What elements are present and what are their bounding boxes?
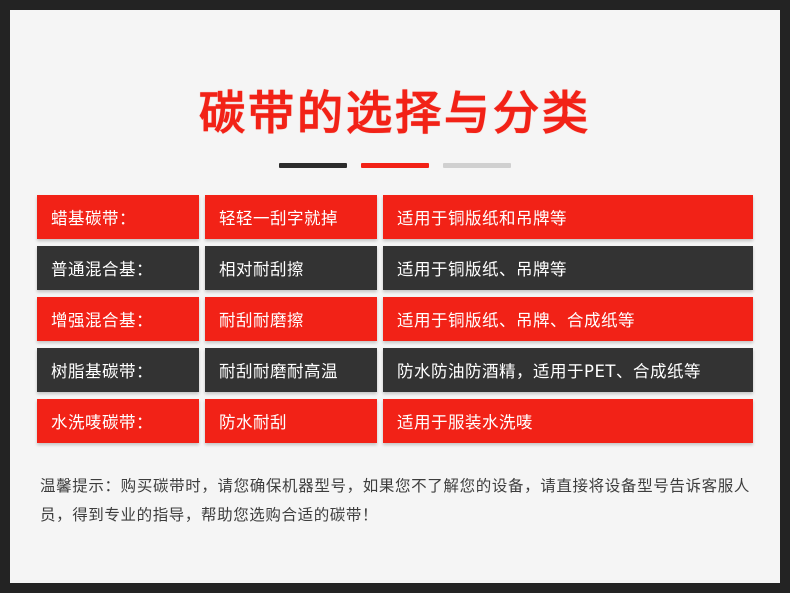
cell-ribbon-application: 防水防油防酒精，适用于PET、合成纸等 [383,348,753,392]
title-divider [279,163,511,168]
tip-note: 温馨提示：购买碳带时，请您确保机器型号，如果您不了解您的设备，请直接将设备型号告… [40,472,750,530]
cell-ribbon-property: 耐刮耐磨擦 [205,297,377,341]
cell-ribbon-application: 适用于铜版纸、吊牌等 [383,246,753,290]
cell-ribbon-application: 适用于服装水洗唛 [383,399,753,443]
poster-frame: 碳带的选择与分类 蜡基碳带： 轻轻一刮字就掉 适用于铜版纸和吊牌等 普通混合基：… [0,0,790,593]
table-row: 树脂基碳带： 耐刮耐磨耐高温 防水防油防酒精，适用于PET、合成纸等 [37,348,753,392]
table-row: 水洗唛碳带： 防水耐刮 适用于服装水洗唛 [37,399,753,443]
table-row: 增强混合基： 耐刮耐磨擦 适用于铜版纸、吊牌、合成纸等 [37,297,753,341]
cell-ribbon-application: 适用于铜版纸和吊牌等 [383,195,753,239]
cell-ribbon-application: 适用于铜版纸、吊牌、合成纸等 [383,297,753,341]
table-row: 蜡基碳带： 轻轻一刮字就掉 适用于铜版纸和吊牌等 [37,195,753,239]
cell-ribbon-type: 树脂基碳带： [37,348,199,392]
divider-segment-red [361,163,429,168]
cell-ribbon-type: 普通混合基： [37,246,199,290]
cell-ribbon-property: 耐刮耐磨耐高温 [205,348,377,392]
divider-segment-gray [443,163,511,168]
title-block: 碳带的选择与分类 [10,10,780,168]
table-row: 普通混合基： 相对耐刮擦 适用于铜版纸、吊牌等 [37,246,753,290]
cell-ribbon-type: 蜡基碳带： [37,195,199,239]
ribbon-comparison-table: 蜡基碳带： 轻轻一刮字就掉 适用于铜版纸和吊牌等 普通混合基： 相对耐刮擦 适用… [37,195,753,443]
divider-segment-dark [279,163,347,168]
cell-ribbon-property: 相对耐刮擦 [205,246,377,290]
cell-ribbon-type: 水洗唛碳带： [37,399,199,443]
page-title: 碳带的选择与分类 [10,88,780,139]
cell-ribbon-property: 防水耐刮 [205,399,377,443]
cell-ribbon-type: 增强混合基： [37,297,199,341]
cell-ribbon-property: 轻轻一刮字就掉 [205,195,377,239]
